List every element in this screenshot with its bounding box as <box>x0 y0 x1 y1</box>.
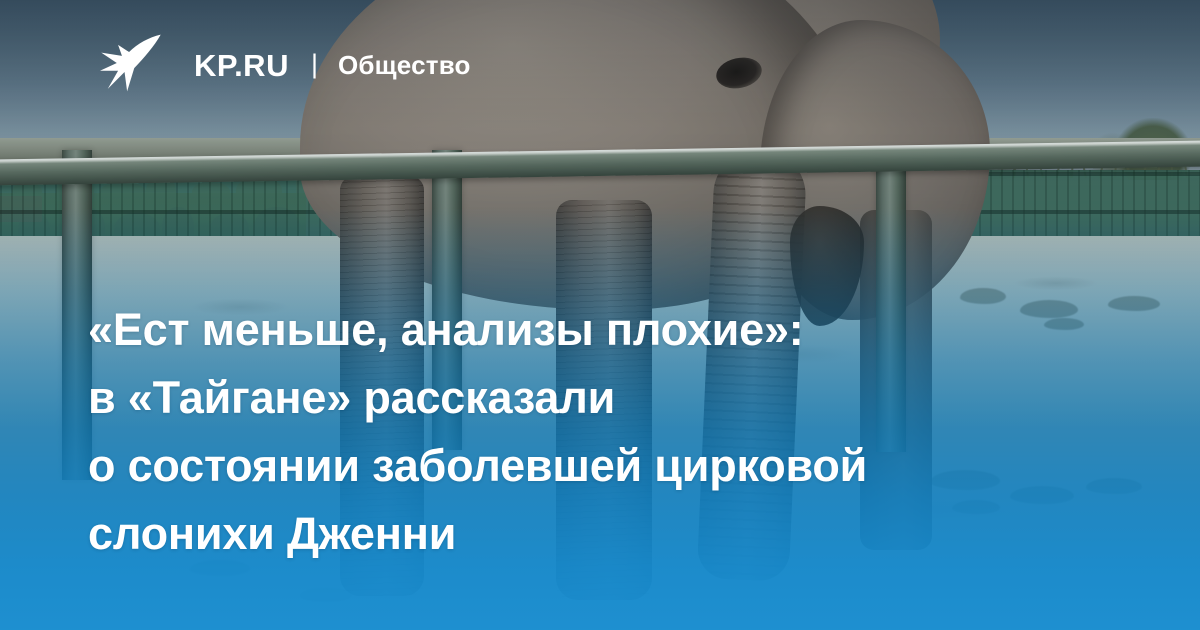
headline-line-2: в «Тайгане» рассказали <box>88 364 1128 432</box>
card-header: KP.RU | Общество <box>0 0 1200 130</box>
headline: «Ест меньше, анализы плохие»: в «Тайгане… <box>88 296 1128 568</box>
news-social-card: KP.RU | Общество «Ест меньше, анализы пл… <box>0 0 1200 630</box>
headline-line-1: «Ест меньше, анализы плохие»: <box>88 296 1128 364</box>
brand-name[interactable]: KP.RU <box>194 50 289 81</box>
headline-line-3: о состоянии заболевшей цирковой <box>88 432 1128 500</box>
rubric-label[interactable]: Общество <box>338 50 471 81</box>
headline-line-4: слонихи Дженни <box>88 500 1128 568</box>
header-separator: | <box>311 49 318 80</box>
swallow-bird-logo-icon[interactable] <box>98 32 164 94</box>
